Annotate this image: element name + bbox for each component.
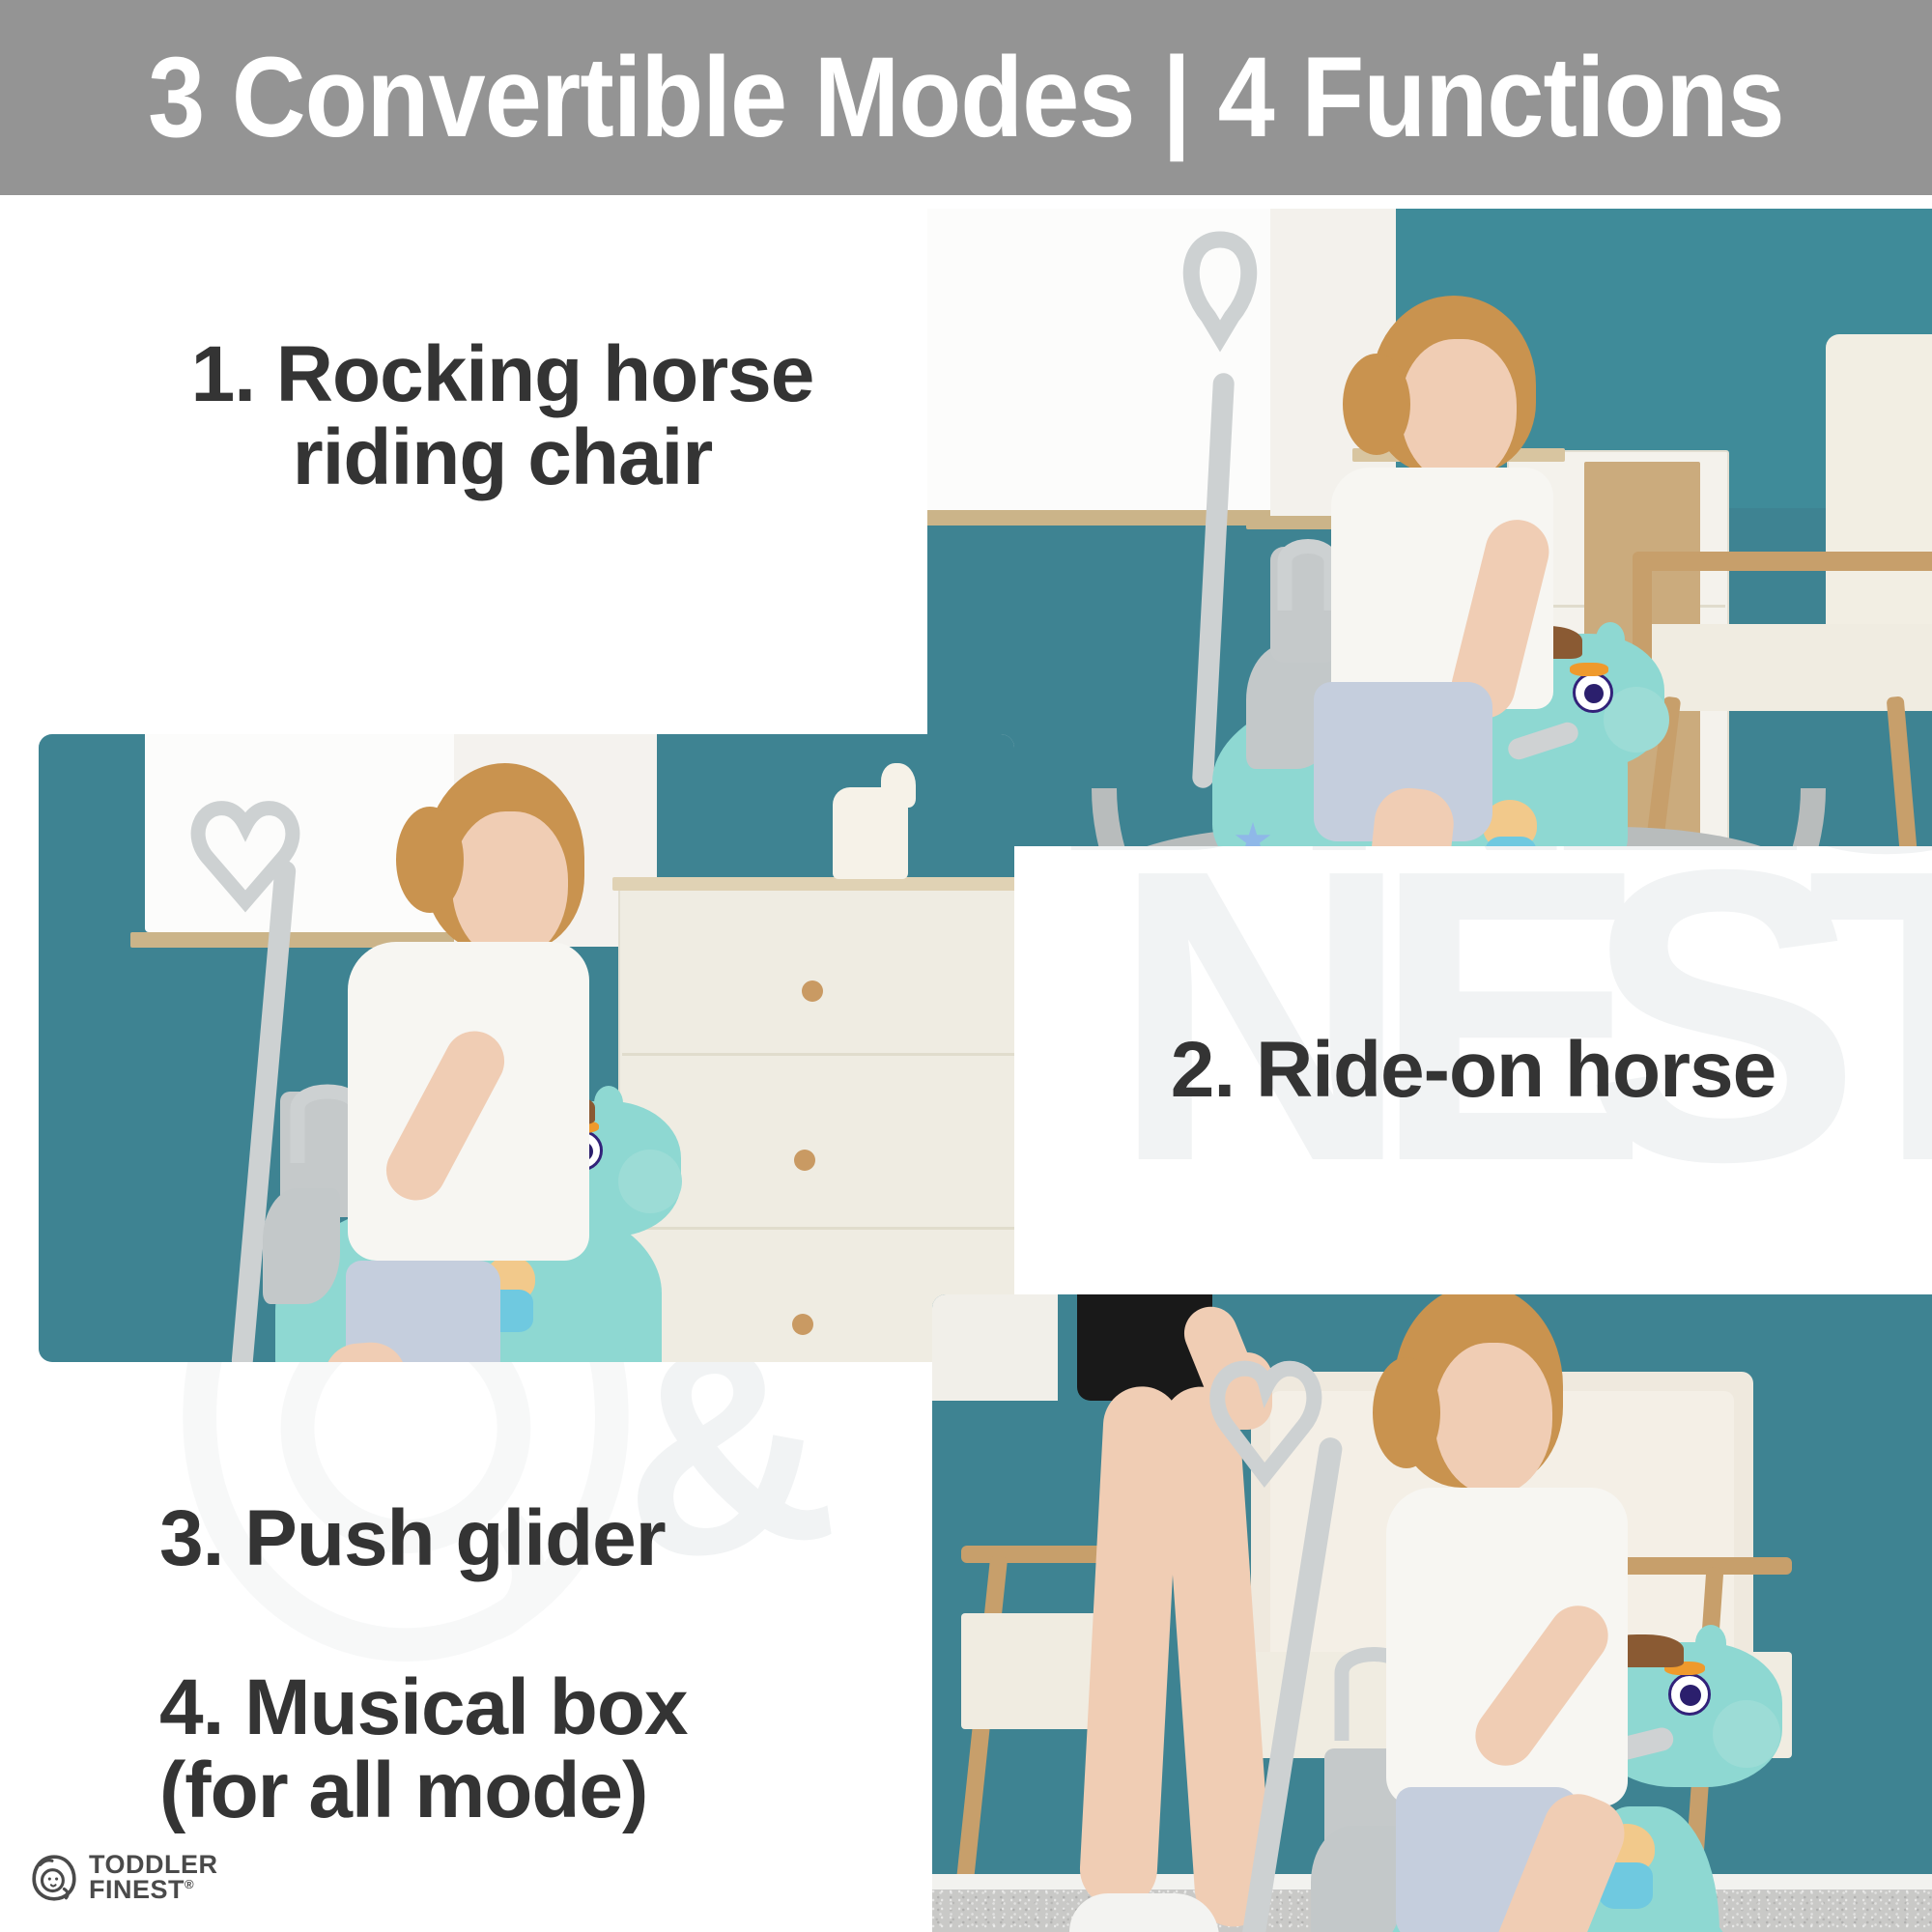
armchair-arm bbox=[1633, 552, 1932, 571]
toy-horse-muzzle bbox=[1604, 687, 1669, 753]
adult-sock bbox=[1069, 1893, 1219, 1932]
toy-horse-ear bbox=[1596, 622, 1625, 657]
watermark-letter: T bbox=[1806, 850, 1932, 1182]
push-handle-heart-grip-icon bbox=[184, 787, 309, 913]
watermark-letter: S bbox=[1584, 850, 1861, 1182]
photo-ride-on-horse bbox=[39, 734, 1014, 1362]
registered-mark: ® bbox=[185, 1877, 194, 1891]
mode-label-4-line1: 4. Musical box bbox=[159, 1666, 913, 1749]
mode-label-3-line1: 3. Push glider bbox=[159, 1497, 855, 1580]
drawer-knob bbox=[802, 980, 823, 1002]
drawer-divider bbox=[622, 1227, 1014, 1230]
drawer-divider bbox=[622, 1053, 1014, 1056]
toy-horse-muzzle bbox=[1713, 1700, 1780, 1768]
watermark-letter: N bbox=[1111, 850, 1411, 1182]
photo-push-glider bbox=[932, 1294, 1932, 1932]
mode-label-3: 3. Push glider bbox=[159, 1497, 855, 1580]
page-title: 3 Convertible Modes | 4 Functions bbox=[148, 41, 1784, 155]
toy-horse-ear bbox=[594, 1086, 623, 1121]
dresser bbox=[618, 884, 1014, 1362]
child-face bbox=[452, 811, 568, 961]
brand-logo: TODDLER FINEST® bbox=[29, 1853, 218, 1903]
mode-label-4-line2: (for all mode) bbox=[159, 1749, 913, 1833]
toy-horse-ear bbox=[1695, 1625, 1726, 1662]
baby-logo-icon bbox=[29, 1853, 79, 1903]
toy-horse-wing-decal bbox=[1311, 1826, 1403, 1932]
brand-name-line2: FINEST® bbox=[89, 1878, 218, 1903]
drawer-knob bbox=[794, 1150, 815, 1171]
toy-horse-wing-decal bbox=[263, 1188, 340, 1304]
mode-label-1-line2: riding chair bbox=[116, 416, 889, 499]
toy-horse-pupil bbox=[1680, 1685, 1701, 1706]
mode-label-2: 2. Ride-on horse bbox=[1072, 1029, 1874, 1112]
child-ponytail bbox=[1373, 1357, 1440, 1468]
header-banner: 3 Convertible Modes | 4 Functions bbox=[0, 0, 1932, 195]
mode-label-4: 4. Musical box (for all mode) bbox=[159, 1666, 913, 1833]
toy-horse-muzzle bbox=[618, 1150, 682, 1213]
dresser-top bbox=[612, 877, 1014, 891]
photo-rocking-horse-riding-chair bbox=[927, 209, 1932, 846]
watermark-letter: E bbox=[1372, 850, 1649, 1182]
wall-panel-light bbox=[932, 1294, 1058, 1401]
mode-label-2-line1: 2. Ride-on horse bbox=[1072, 1029, 1874, 1112]
mode-label-1: 1. Rocking horse riding chair bbox=[116, 333, 889, 499]
push-handle-grip-icon bbox=[1174, 228, 1265, 392]
mode-label-1-line1: 1. Rocking horse bbox=[116, 333, 889, 416]
push-handle-grip-icon bbox=[1193, 1348, 1338, 1492]
child-face bbox=[1401, 339, 1517, 484]
brand-logo-text: TODDLER FINEST® bbox=[89, 1853, 218, 1903]
bear-sticker-shirt bbox=[1486, 837, 1536, 846]
child-ponytail bbox=[1343, 354, 1410, 455]
child-ponytail bbox=[396, 807, 464, 913]
toy-horse-pupil bbox=[1584, 684, 1604, 703]
sofa-arm-right bbox=[1618, 1557, 1792, 1575]
toy-horse-eyelash bbox=[1570, 663, 1608, 676]
child-face bbox=[1435, 1343, 1552, 1495]
armchair-back bbox=[1826, 334, 1932, 653]
decor-wooden-horse-head bbox=[881, 763, 916, 808]
drawer-knob bbox=[792, 1314, 813, 1335]
